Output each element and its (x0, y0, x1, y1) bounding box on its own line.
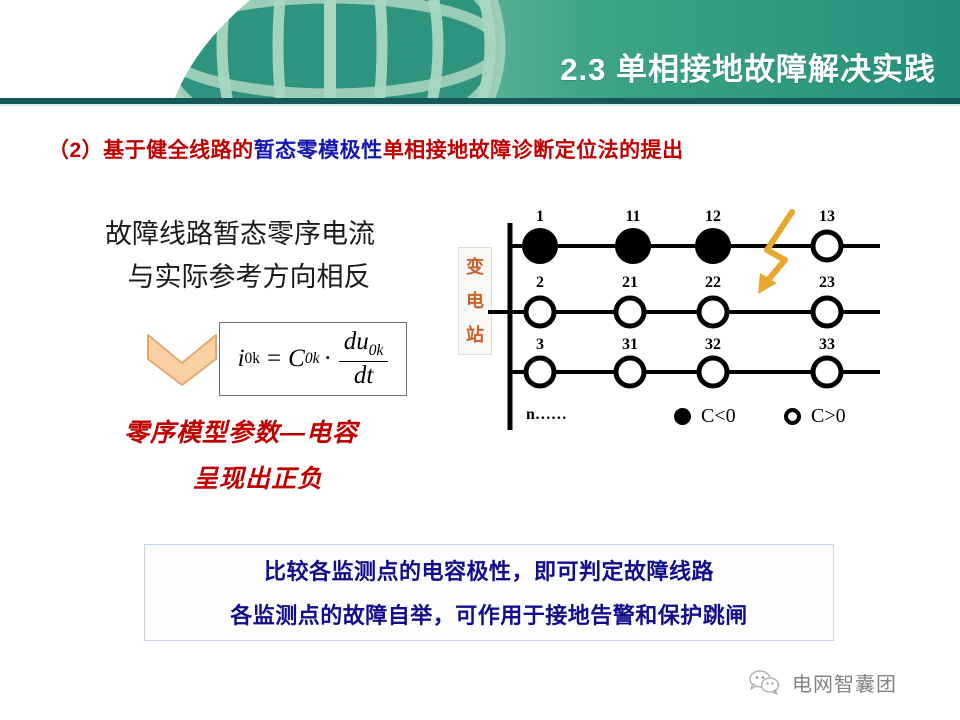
header-divider-shadow (0, 104, 960, 106)
down-chevron-arrow (146, 329, 218, 387)
legend-entry-positive: C>0 (784, 405, 846, 428)
formula-box: i0k = C0k · du0k dt (219, 322, 407, 396)
node-31 (616, 358, 644, 386)
formula-numerator: du0k (339, 329, 389, 361)
formula-dot: · (323, 345, 331, 373)
conclusion-box: 比较各监测点的电容极性，即可判定故障线路 各监测点的故障自举，可作用于接地告警和… (144, 544, 834, 641)
formula-lhs-sub: 0k (245, 350, 261, 368)
statement-line-2: 与实际参考方向相反 (72, 256, 408, 299)
node-11 (617, 230, 649, 262)
section-subtitle: （2）基于健全线路的暂态零模极性单相接地故障诊断定位法的提出 (48, 134, 684, 164)
conclusion-line-2: 各监测点的故障自举，可作用于接地告警和保护跳闸 (145, 594, 833, 638)
header-banner: 2.3 单相接地故障解决实践 (0, 0, 960, 98)
subtitle-highlight: 暂态零模极性 (254, 139, 383, 162)
page-title: 2.3 单相接地故障解决实践 (560, 44, 936, 89)
legend-open-circle-icon (784, 408, 801, 425)
formula-expression: i0k = C0k · du0k dt (238, 329, 389, 389)
watermark: 电网智囊团 (748, 668, 897, 697)
lightning-bolt-arrow (758, 212, 792, 294)
formula-rhs-sub: 0k (305, 350, 320, 368)
formula-rhs-var: C (288, 345, 305, 373)
wechat-icon (748, 669, 782, 697)
subtitle-suffix: 单相接地故障诊断定位法的提出 (383, 139, 684, 162)
conclusion-line-1: 比较各监测点的电容极性，即可判定故障线路 (145, 550, 833, 594)
watermark-text: 电网智囊团 (792, 668, 897, 697)
node-32 (699, 358, 727, 386)
node-1 (524, 230, 556, 262)
statement-text: 故障线路暂态零序电流 与实际参考方向相反 (72, 213, 408, 299)
node-22 (699, 298, 727, 326)
node-label-31: 31 (622, 336, 638, 354)
legend-entry-negative: C<0 (674, 405, 736, 428)
node-13 (813, 232, 841, 260)
formula-denominator: dt (349, 362, 378, 389)
node-label-23: 23 (819, 274, 835, 292)
formula-numerator-sub: 0k (369, 342, 384, 359)
formula-numerator-var: du (344, 328, 369, 355)
node-21 (616, 298, 644, 326)
node-23 (813, 298, 841, 326)
node-label-3: 3 (536, 336, 544, 354)
network-diagram: 变 电 站 1 11 12 (440, 190, 940, 450)
node-label-13: 13 (819, 208, 835, 226)
callout-line-2: 呈现出正负 (82, 456, 400, 502)
node-label-12: 12 (705, 208, 721, 226)
node-2 (526, 298, 554, 326)
statement-line-1: 故障线路暂态零序电流 (72, 213, 408, 256)
node-label-2: 2 (536, 274, 544, 292)
node-label-11: 11 (625, 208, 640, 226)
node-label-1: 1 (536, 208, 544, 226)
node-label-22: 22 (705, 274, 721, 292)
node-label-32: 32 (705, 336, 721, 354)
legend-negative-text: C<0 (701, 405, 736, 428)
legend-filled-circle-icon (674, 408, 691, 425)
node-label-33: 33 (819, 336, 835, 354)
node-3 (526, 358, 554, 386)
node-label-21: 21 (622, 274, 638, 292)
subtitle-prefix: （2）基于健全线路的 (48, 139, 254, 162)
formula-fraction: du0k dt (339, 329, 389, 389)
continuation-label: n…… (526, 406, 567, 424)
callout-line-1: 零序模型参数—电容 (82, 410, 400, 456)
node-12 (697, 230, 729, 262)
node-33 (813, 358, 841, 386)
legend-positive-text: C>0 (811, 405, 846, 428)
red-callout: 零序模型参数—电容 呈现出正负 (82, 410, 400, 502)
formula-equals: = (267, 345, 281, 373)
formula-lhs-var: i (238, 345, 245, 373)
